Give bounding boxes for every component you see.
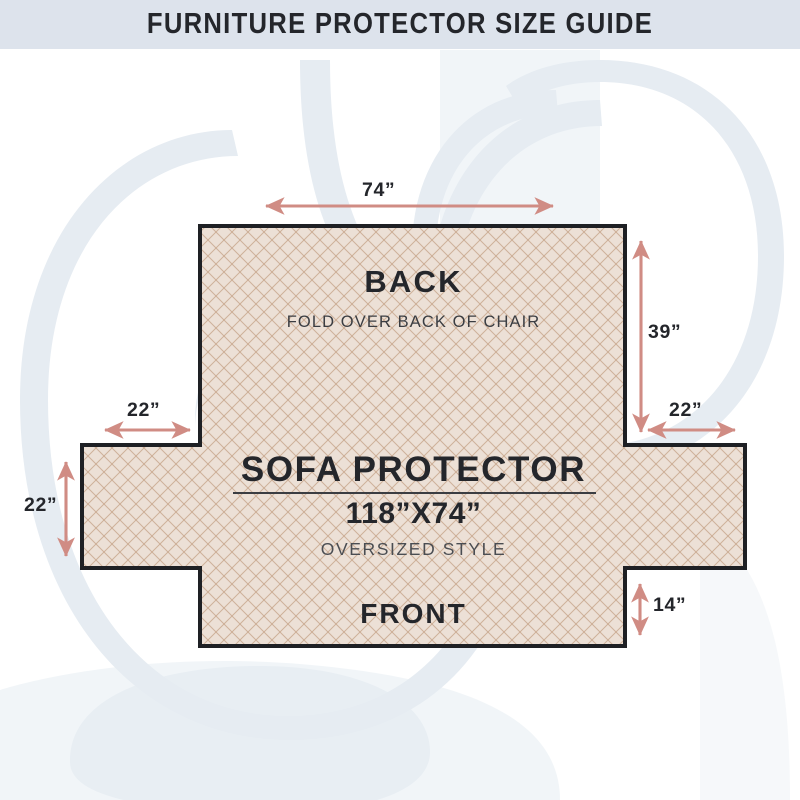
dimension-label-right-arm-width: 22” xyxy=(669,399,702,422)
dimension-label-left-arm-width: 22” xyxy=(127,399,160,422)
product-title: SOFA PROTECTOR xyxy=(0,450,800,490)
title-underline xyxy=(233,492,596,494)
dimension-label-front-height: 14” xyxy=(653,594,686,617)
dimension-label-back-height: 39” xyxy=(648,321,681,344)
dimension-label-top-width: 74” xyxy=(362,179,395,202)
size-guide-infographic: FURNITURE PROTECTOR SIZE GUIDE xyxy=(0,0,800,800)
back-panel-label: BACK xyxy=(0,264,800,300)
product-style: OVERSIZED STYLE xyxy=(0,539,800,560)
dimension-label-arm-height: 22” xyxy=(24,494,57,517)
product-size: 118”X74” xyxy=(0,497,800,531)
